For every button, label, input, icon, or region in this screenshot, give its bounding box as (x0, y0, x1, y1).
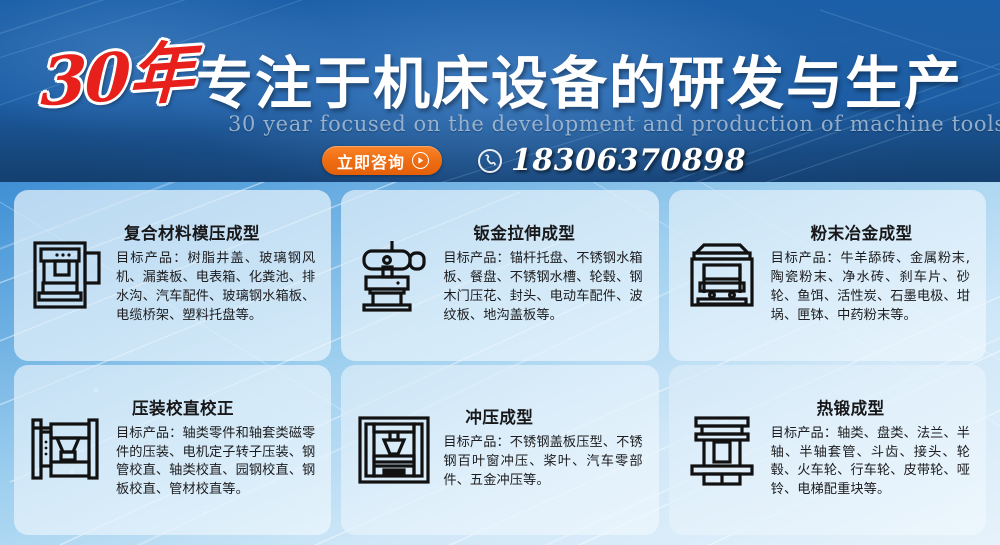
press-fit-straightening-machine-icon (24, 407, 110, 493)
product-card-desc: 目标产品：牛羊舔砖、金属粉末,陶瓷粉末、净水砖、刹车片、砂轮、鱼饵、活性炭、石墨… (771, 250, 970, 325)
product-card-title: 热锻成型 (817, 400, 970, 418)
stamping-press-icon (351, 407, 437, 493)
phone-contact[interactable]: 18306370898 (478, 143, 746, 178)
promo-banner: 30年 专注于机床设备的研发与生产 30 year focused on the… (0, 0, 1000, 545)
powder-metallurgy-press-icon (679, 232, 765, 318)
product-card-body: 复合材料模压成型 目标产品：树脂井盖、玻璃钢风机、漏粪板、电表箱、化粪池、排水沟… (116, 225, 317, 325)
page-title: 专注于机床设备的研发与生产 (196, 38, 963, 120)
product-card-desc: 目标产品：不锈钢盖板压型、不锈钢百叶窗冲压、桨叶、汽车零部件、五金冲压等。 (443, 434, 642, 490)
banner-body: 复合材料模压成型 目标产品：树脂井盖、玻璃钢风机、漏粪板、电表箱、化粪池、排水沟… (0, 182, 1000, 545)
product-card-body: 热锻成型 目标产品：轴类、盘类、法兰、半轴、半轴套管、斗齿、接头、轮毂、火车轮、… (771, 400, 972, 500)
product-card-title: 冲压成型 (465, 409, 642, 427)
hot-forging-press-icon (679, 407, 765, 493)
consult-now-button[interactable]: 立即咨询 (322, 146, 442, 175)
product-card[interactable]: 冲压成型 目标产品：不锈钢盖板压型、不锈钢百叶窗冲压、桨叶、汽车零部件、五金冲压… (341, 365, 658, 536)
product-card-body: 冲压成型 目标产品：不锈钢盖板压型、不锈钢百叶窗冲压、桨叶、汽车零部件、五金冲压… (443, 409, 644, 490)
product-card-body: 钣金拉伸成型 目标产品：锚杆托盘、不锈钢水箱板、餐盘、不锈钢水槽、轮毂、钢木门压… (443, 225, 644, 325)
molding-press-machine-icon (24, 232, 110, 318)
product-card-title: 钣金拉伸成型 (473, 225, 642, 243)
product-card-title: 复合材料模压成型 (124, 225, 315, 243)
product-card-body: 粉末冶金成型 目标产品：牛羊舔砖、金属粉末,陶瓷粉末、净水砖、刹车片、砂轮、鱼饵… (771, 225, 972, 325)
contact-row: 立即咨询 18306370898 (322, 143, 746, 178)
product-card-grid: 复合材料模压成型 目标产品：树脂井盖、玻璃钢风机、漏粪板、电表箱、化粪池、排水沟… (0, 182, 1000, 545)
product-card[interactable]: 复合材料模压成型 目标产品：树脂井盖、玻璃钢风机、漏粪板、电表箱、化粪池、排水沟… (14, 190, 331, 361)
product-card-desc: 目标产品：树脂井盖、玻璃钢风机、漏粪板、电表箱、化粪池、排水沟、汽车配件、玻璃钢… (116, 250, 315, 325)
product-card[interactable]: 粉末冶金成型 目标产品：牛羊舔砖、金属粉末,陶瓷粉末、净水砖、刹车片、砂轮、鱼饵… (669, 190, 986, 361)
page-subtitle: 30 year focused on the development and p… (228, 112, 1000, 136)
banner-header: 30年 专注于机床设备的研发与生产 30 year focused on the… (0, 0, 1000, 182)
consult-now-label: 立即咨询 (337, 149, 405, 173)
sheet-metal-drawing-machine-icon (351, 232, 437, 318)
product-card[interactable]: 热锻成型 目标产品：轴类、盘类、法兰、半轴、半轴套管、斗齿、接头、轮毂、火车轮、… (669, 365, 986, 536)
phone-circle-icon (478, 149, 502, 173)
product-card-desc: 目标产品：轴类零件和轴套类磁零件的压装、电机定子转子压装、钢管校直、轴类校直、园… (116, 425, 315, 500)
arrow-right-circle-icon (412, 152, 429, 169)
product-card-title: 粉末冶金成型 (811, 225, 970, 243)
product-card[interactable]: 钣金拉伸成型 目标产品：锚杆托盘、不锈钢水箱板、餐盘、不锈钢水槽、轮毂、钢木门压… (341, 190, 658, 361)
product-card[interactable]: 压装校直校正 目标产品：轴类零件和轴套类磁零件的压装、电机定子转子压装、钢管校直… (14, 365, 331, 536)
phone-number: 18306370898 (511, 143, 746, 178)
product-card-desc: 目标产品：锚杆托盘、不锈钢水箱板、餐盘、不锈钢水槽、轮毂、钢木门压花、封头、电动… (443, 250, 642, 325)
product-card-desc: 目标产品：轴类、盘类、法兰、半轴、半轴套管、斗齿、接头、轮毂、火车轮、行车轮、皮… (771, 425, 970, 500)
product-card-title: 压装校直校正 (132, 400, 315, 418)
product-card-body: 压装校直校正 目标产品：轴类零件和轴套类磁零件的压装、电机定子转子压装、钢管校直… (116, 400, 317, 500)
years-badge: 30年 (21, 19, 214, 125)
